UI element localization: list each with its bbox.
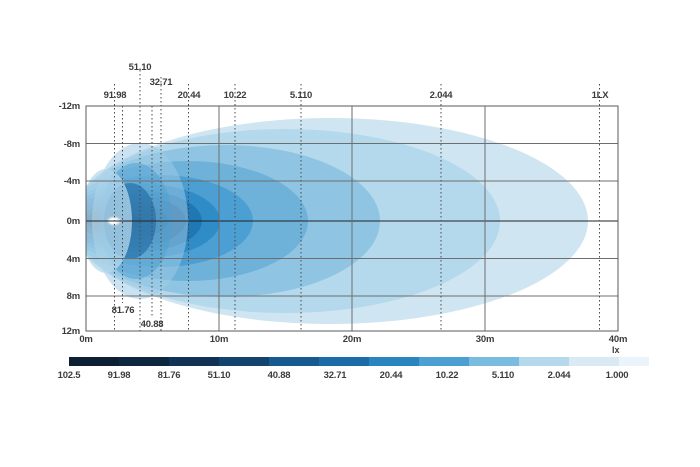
x-tick-30m: 30m	[469, 334, 501, 345]
x-tick-0m: 0m	[70, 334, 102, 345]
legend-bar	[69, 357, 649, 366]
legend-swatch-0	[69, 357, 119, 366]
isolux-label-20-44: 20.44	[165, 90, 213, 101]
isolux-label-2-044: 2.044	[417, 90, 465, 101]
legend-swatch-4	[269, 357, 319, 366]
y-tick-minus8: -8m	[40, 139, 80, 150]
legend-tick-51-10: 51.10	[194, 370, 244, 381]
x-tick-40m: 40m	[602, 334, 634, 345]
legend-tick-32-71: 32.71	[310, 370, 360, 381]
legend-swatch-11	[619, 357, 649, 366]
legend-tick-40-88: 40.88	[254, 370, 304, 381]
legend-swatch-2	[169, 357, 219, 366]
isolux-plot	[0, 0, 700, 467]
y-tick-8: 8m	[40, 291, 80, 302]
legend-tick-5-110: 5.110	[478, 370, 528, 381]
legend-tick-1-000: 1.000	[592, 370, 642, 381]
legend-tick-81-76: 81.76	[144, 370, 194, 381]
legend-tick-91-98: 91.98	[94, 370, 144, 381]
y-tick-minus4: -4m	[40, 176, 80, 187]
isolux-label-10-22: 10.22	[211, 90, 259, 101]
legend-swatch-9	[519, 357, 569, 366]
legend-tick-20-44: 20.44	[366, 370, 416, 381]
isolux-label-32-71: 32.71	[137, 77, 185, 88]
x-tick-20m: 20m	[336, 334, 368, 345]
legend-swatch-7	[419, 357, 469, 366]
y-tick-0: 0m	[40, 216, 80, 227]
x-tick-10m: 10m	[203, 334, 235, 345]
y-tick-4: 4m	[40, 254, 80, 265]
y-tick-minus12: -12m	[40, 101, 80, 112]
light-distribution-diagram: -12m -8m -4m 0m 4m 8m 12m 0m 10m 20m 30m…	[0, 0, 700, 467]
isolux-label-5-110: 5.110	[277, 90, 325, 101]
legend-swatch-1	[119, 357, 169, 366]
legend-swatch-6	[369, 357, 419, 366]
isolux-label-91-98: 91.98	[91, 90, 139, 101]
isolux-label-40-88: 40.88	[128, 319, 176, 330]
legend-tick-10-22: 10.22	[422, 370, 472, 381]
legend-swatch-5	[319, 357, 369, 366]
isolux-label-1lx: 1LX	[576, 90, 624, 101]
legend-swatch-3	[219, 357, 269, 366]
legend-swatch-10	[569, 357, 619, 366]
legend-swatch-8	[469, 357, 519, 366]
legend-tick-2-044: 2.044	[534, 370, 584, 381]
legend-tick-102-5: 102.5	[44, 370, 94, 381]
isolux-label-51-10: 51.10	[116, 62, 164, 73]
isolux-label-81-76: 81.76	[99, 305, 147, 316]
legend-unit-label: lx	[612, 345, 620, 355]
